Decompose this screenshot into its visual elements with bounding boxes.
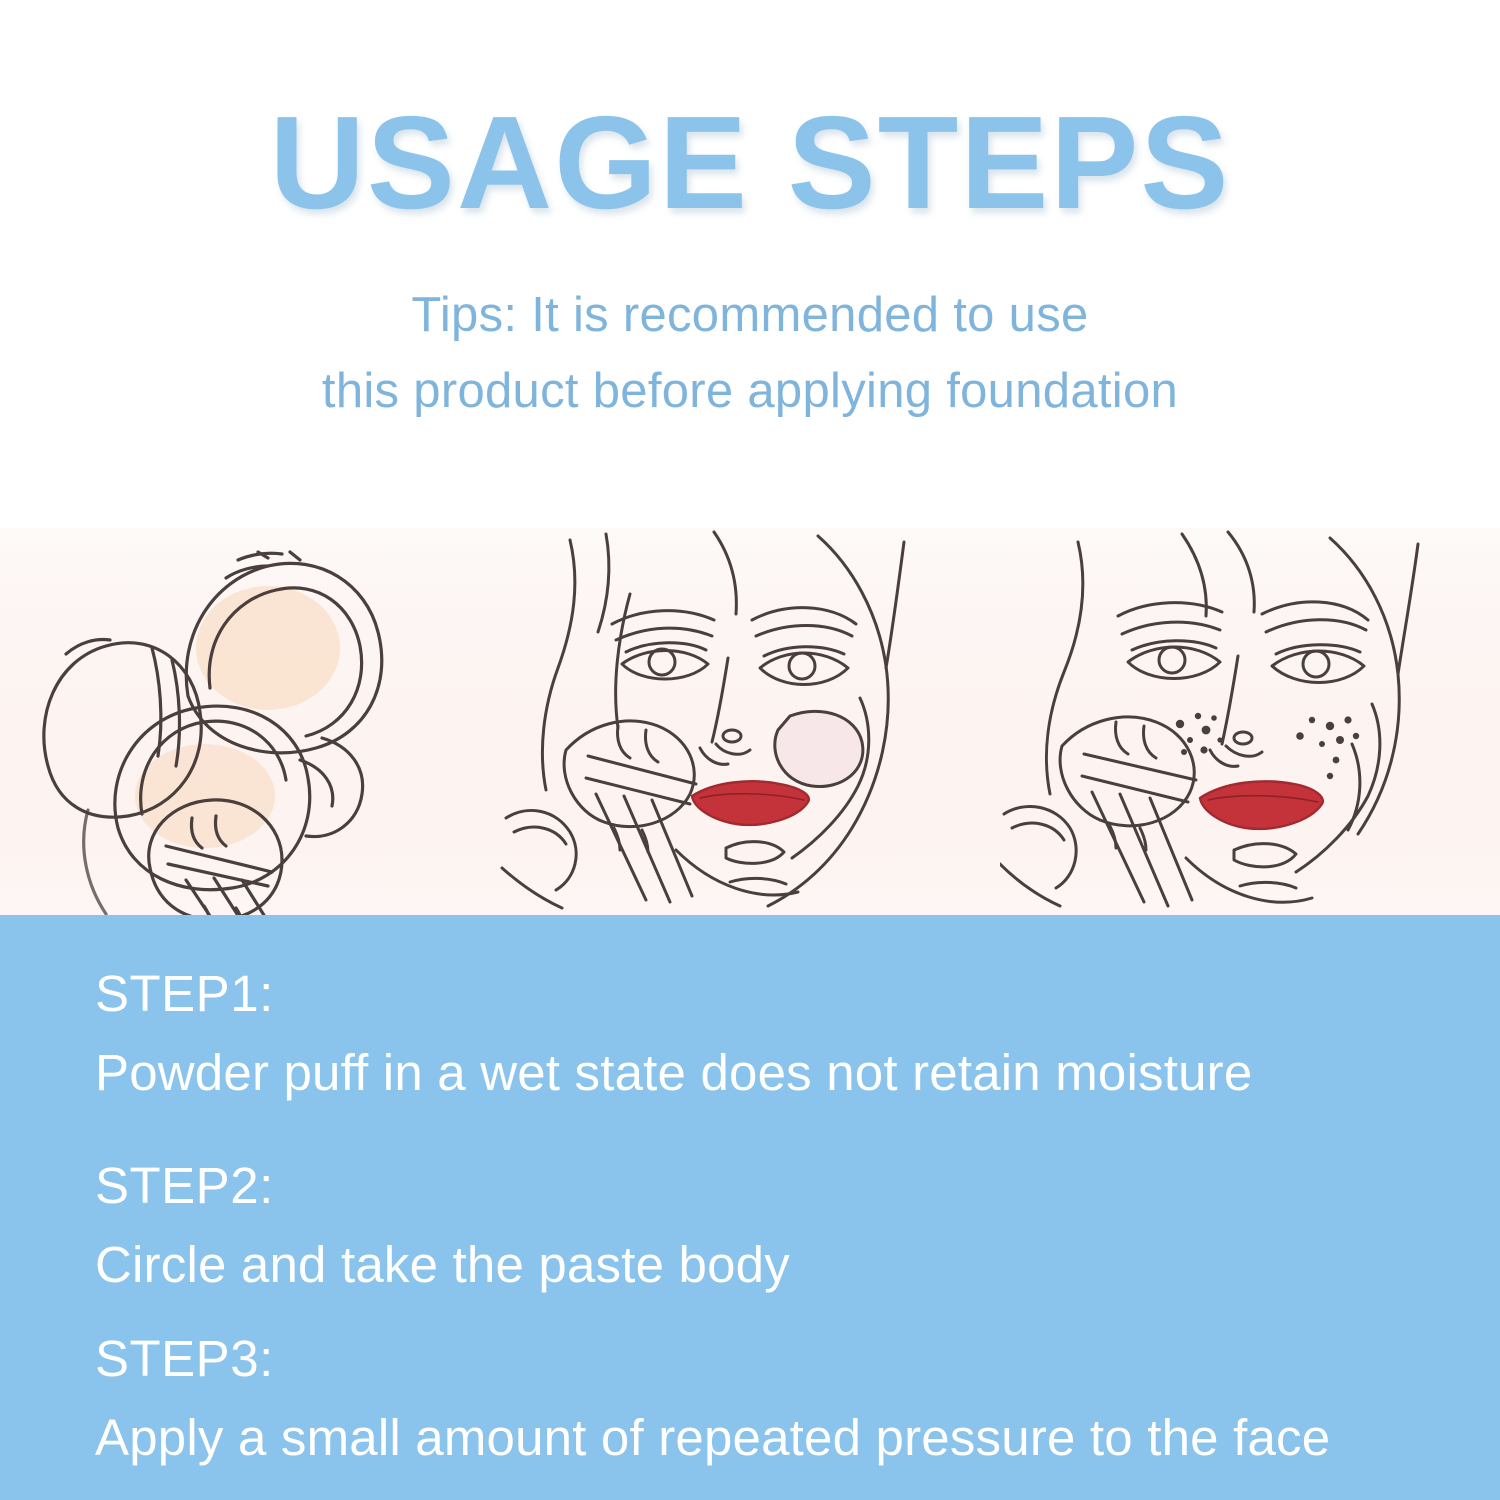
step-block-3: STEP3: Apply a small amount of repeated … [95,1333,1330,1463]
usage-steps-infographic: USAGE STEPS Tips: It is recommended to u… [0,0,1500,1500]
face-with-freckles-icon [1000,528,1500,915]
illustration-face-with-freckles-applying-puff [1000,528,1500,915]
step-block-2: STEP2: Circle and take the paste body [95,1160,790,1290]
tips-line-1: Tips: It is recommended to use [0,287,1500,343]
step-1-text: Powder puff in a wet state does not reta… [95,1047,1252,1098]
step-3-text: Apply a small amount of repeated pressur… [95,1412,1330,1463]
step-1-label: STEP1: [95,968,1252,1019]
header-section: USAGE STEPS Tips: It is recommended to u… [0,0,1500,528]
face-with-puff-icon [500,528,1000,915]
step-2-text: Circle and take the paste body [95,1239,790,1290]
illustration-band [0,528,1500,915]
step-block-1: STEP1: Powder puff in a wet state does n… [95,968,1252,1098]
step-3-label: STEP3: [95,1333,1330,1384]
page-title: USAGE STEPS [0,94,1500,233]
illustration-powder-compact-with-puff [0,528,500,915]
step-2-label: STEP2: [95,1160,790,1211]
illustration-face-applying-puff-to-cheek [500,528,1000,915]
powder-compact-icon [0,528,500,915]
tips-line-2: this product before applying foundation [0,363,1500,419]
